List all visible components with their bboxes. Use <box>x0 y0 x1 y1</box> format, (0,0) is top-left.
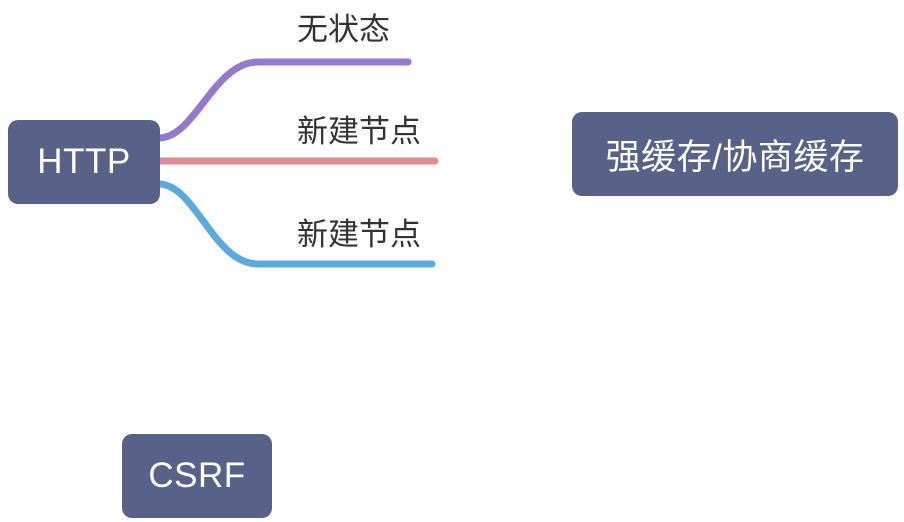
branch-label-new-node-2[interactable]: 新建节点 <box>297 219 421 250</box>
mindmap-canvas: HTTP 强缓存/协商缓存 CSRF 无状态 新建节点 新建节点 <box>0 0 904 522</box>
node-csrf-label: CSRF <box>148 456 245 496</box>
node-cache-label: 强缓存/协商缓存 <box>606 129 865 180</box>
node-csrf[interactable]: CSRF <box>122 434 272 518</box>
node-http[interactable]: HTTP <box>8 120 160 204</box>
node-http-label: HTTP <box>37 142 130 182</box>
branch-label-new-node-1[interactable]: 新建节点 <box>297 116 421 147</box>
node-cache[interactable]: 强缓存/协商缓存 <box>572 112 898 196</box>
branch-label-stateless[interactable]: 无状态 <box>297 14 390 45</box>
